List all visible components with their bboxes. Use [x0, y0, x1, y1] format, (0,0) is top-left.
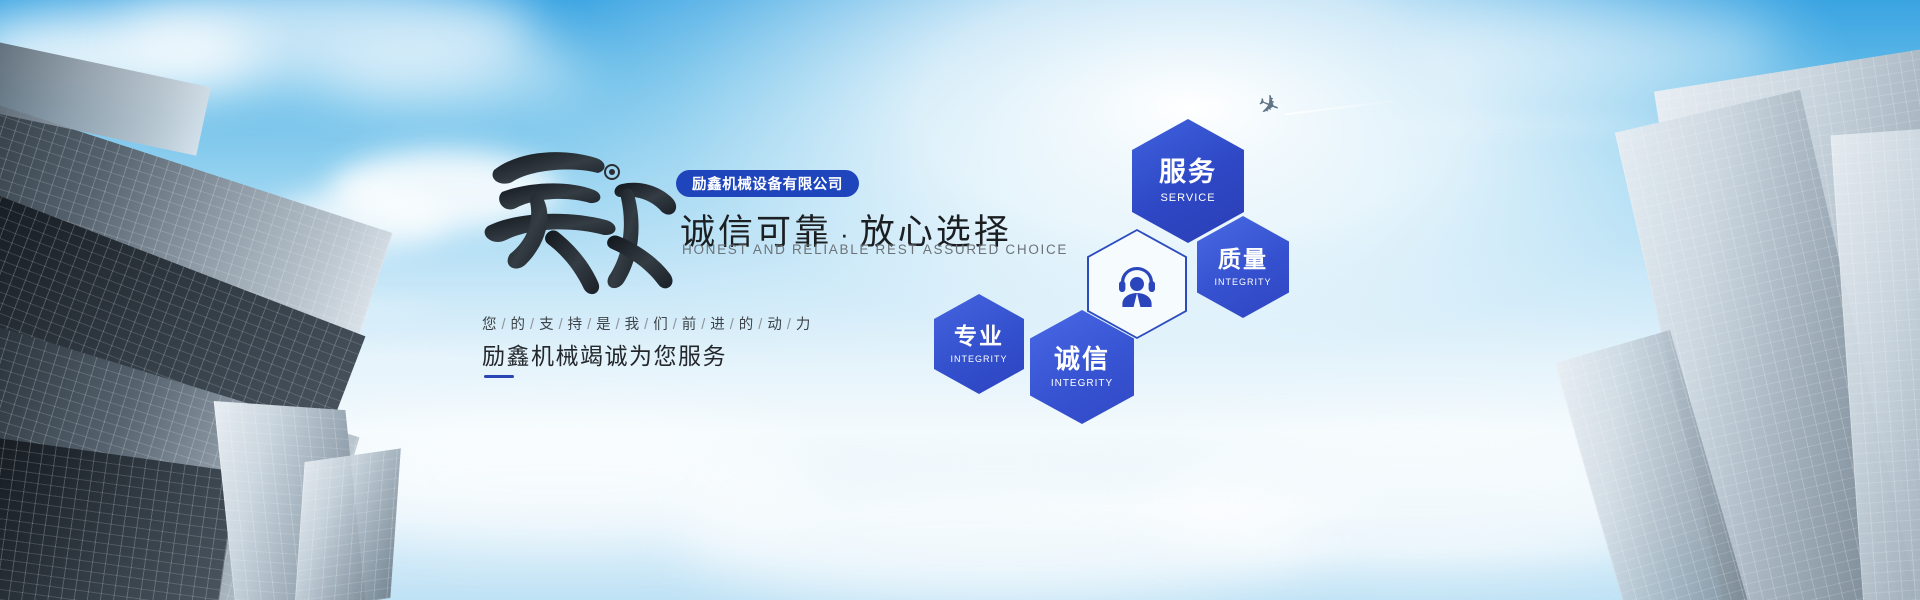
- motto-separator: /: [730, 317, 735, 333]
- accent-rule: [484, 375, 514, 378]
- motto-separator: /: [502, 317, 507, 333]
- motto-separator: /: [758, 317, 763, 333]
- hexagon-service-sublabel: SERVICE: [1160, 193, 1215, 204]
- hexagon-service-label: 服务: [1159, 159, 1217, 186]
- motto-char: 动: [767, 317, 783, 333]
- motto-separator: /: [787, 317, 792, 333]
- motto-separator: /: [616, 317, 621, 333]
- motto-separator: /: [530, 317, 535, 333]
- motto-char: 持: [568, 317, 584, 333]
- tagline-english: HONEST AND RELIABLE REST ASSURED CHOICE: [682, 242, 1068, 257]
- hexagon-integrity-sublabel: INTEGRITY: [1051, 379, 1113, 389]
- hexagon-quality-sublabel: INTEGRITY: [1214, 278, 1271, 287]
- customer-service-agent-icon: [1110, 257, 1164, 311]
- motto-separator: /: [701, 317, 706, 333]
- hexagon-expertise-label: 专业: [954, 325, 1004, 348]
- motto-separator: /: [644, 317, 649, 333]
- slash-motto: 您/的/支/持/是/我/们/前/进/的/动/力: [482, 313, 811, 334]
- motto-char: 们: [653, 317, 669, 333]
- promotional-banner: ✈ 励鑫机械设备有限公司: [0, 0, 1920, 600]
- motto-separator: /: [587, 317, 592, 333]
- hexagon-quality-label: 质量: [1218, 248, 1268, 271]
- motto-separator: /: [673, 317, 678, 333]
- motto-char: 您: [482, 317, 498, 333]
- airplane-icon: ✈: [1253, 87, 1285, 124]
- hexagon-expertise-sublabel: INTEGRITY: [950, 355, 1007, 364]
- hexagon-expertise[interactable]: 专业 INTEGRITY: [934, 294, 1024, 394]
- right-building-photo: [1400, 0, 1920, 600]
- motto-char: 力: [796, 317, 812, 333]
- seal-dot-icon: [604, 164, 620, 180]
- company-name-text: 励鑫机械设备有限公司: [692, 173, 843, 194]
- contrail: [1285, 99, 1404, 116]
- motto-char: 进: [710, 317, 726, 333]
- hero-calligraphy: [472, 140, 687, 300]
- hexagon-integrity-label: 诚信: [1054, 346, 1110, 372]
- motto-char: 的: [511, 317, 527, 333]
- service-line: 励鑫机械竭诚为您服务: [482, 337, 727, 371]
- company-name-pill: 励鑫机械设备有限公司: [676, 170, 859, 197]
- motto-char: 我: [625, 317, 641, 333]
- left-building-photo: [0, 0, 470, 600]
- hexagon-service[interactable]: 服务 SERVICE: [1132, 119, 1244, 243]
- motto-char: 支: [539, 317, 555, 333]
- motto-char: 是: [596, 317, 612, 333]
- motto-char: 前: [682, 317, 698, 333]
- hexagon-quality[interactable]: 质量 INTEGRITY: [1197, 216, 1289, 318]
- motto-separator: /: [559, 317, 564, 333]
- motto-char: 的: [739, 317, 755, 333]
